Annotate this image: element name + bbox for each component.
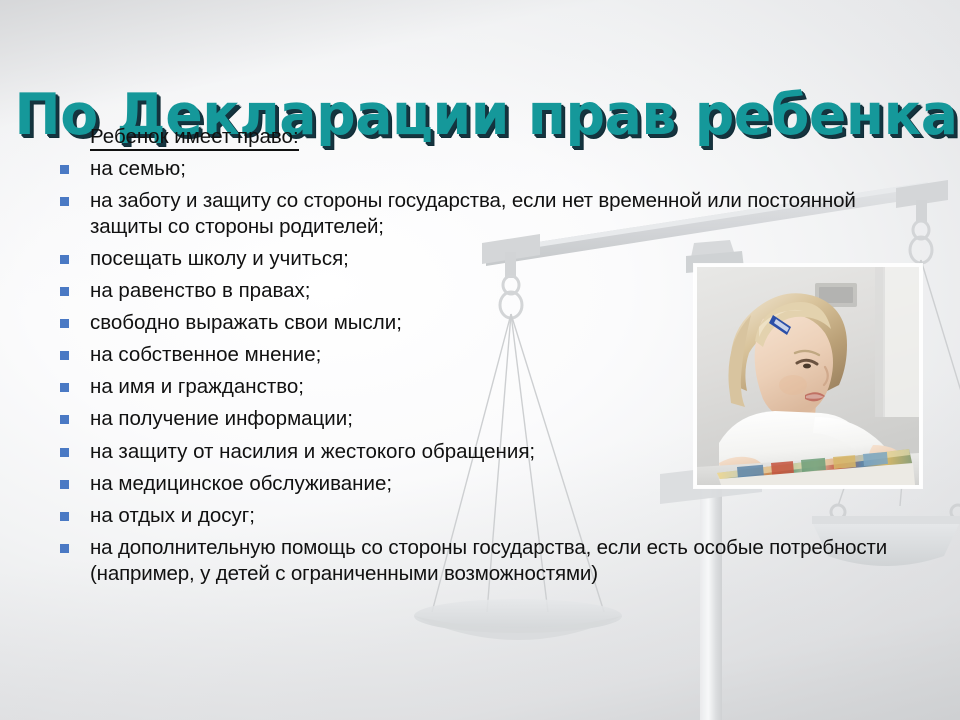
list-item-label: на медицинское обслуживание;: [90, 472, 392, 495]
photo-girl-reading-book: [697, 267, 919, 485]
list-item-label: на собственное мнение;: [90, 343, 321, 366]
bullet-square-icon: [60, 544, 69, 553]
list-item-label: свободно выражать свои мысли;: [90, 311, 402, 334]
list-item-label: на равенство в правах;: [90, 279, 311, 302]
list-item-label: на получение информации;: [90, 407, 353, 430]
list-item-label: на защиту от насилия и жестокого обращен…: [90, 440, 535, 463]
lead-text-underlined: Ребенок имеет право:: [90, 125, 299, 151]
list-item-label: на имя и гражданство;: [90, 375, 304, 398]
bullet-square-icon: [60, 319, 69, 328]
bullet-square-icon: [60, 480, 69, 489]
list-item: на семью;: [54, 156, 914, 182]
list-item-label: на заботу и защиту со стороны государств…: [90, 189, 856, 238]
list-item-label: на отдых и досуг;: [90, 504, 255, 527]
bullet-square-icon: [60, 448, 69, 457]
bullet-square-icon: [60, 287, 69, 296]
list-item-label: посещать школу и учиться;: [90, 247, 349, 270]
lead-text: Ребенок имеет право:: [90, 124, 914, 150]
bullet-square-icon: [60, 351, 69, 360]
bullet-square-icon: [60, 165, 69, 174]
bullet-square-icon: [60, 197, 69, 206]
list-item: на отдых и досуг;: [54, 503, 914, 529]
bullet-square-icon: [60, 383, 69, 392]
list-item-label: на семью;: [90, 157, 186, 180]
bullet-square-icon: [60, 415, 69, 424]
list-item-label: на дополнительную помощь со стороны госу…: [90, 536, 887, 585]
presentation-slide: По Декларации прав ребенка: Ребенок имее…: [0, 0, 960, 720]
bullet-square-icon: [60, 255, 69, 264]
bullet-square-icon: [60, 512, 69, 521]
list-item: на заботу и защиту со стороны государств…: [54, 188, 914, 240]
photo-frame: [694, 264, 922, 488]
list-item: на дополнительную помощь со стороны госу…: [54, 535, 914, 587]
